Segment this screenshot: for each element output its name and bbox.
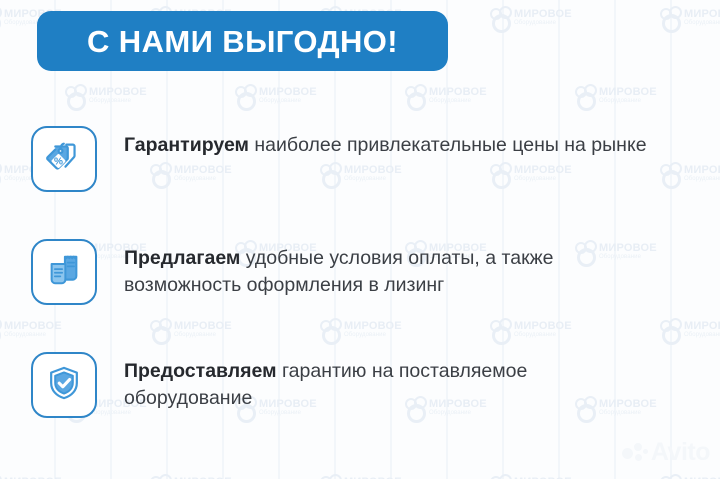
- benefit-text: Гарантируем наиболее привлекательные цен…: [124, 132, 647, 159]
- benefit-icon-box: [31, 239, 97, 305]
- benefit-rest: наиболее привлекательные цены на рынке: [249, 134, 647, 156]
- benefit-row: % Гарантируем наиболее привлекательные ц…: [0, 118, 720, 231]
- benefit-text: Предоставляем гарантию на поставляемое о…: [124, 358, 654, 412]
- benefits-list: % Гарантируем наиболее привлекательные ц…: [0, 118, 720, 457]
- price-tag-percent-icon: %: [42, 135, 86, 184]
- benefit-icon-box: [31, 352, 97, 418]
- benefit-row: Предлагаем удобные условия оплаты, а так…: [0, 231, 720, 344]
- shield-check-icon: [42, 361, 86, 410]
- promo-banner-image: МИРОВОЕОборудованиеМИРОВОЕОборудованиеМИ…: [0, 0, 720, 479]
- benefit-text: Предлагаем удобные условия оплаты, а так…: [124, 245, 654, 299]
- benefit-lead: Гарантируем: [124, 134, 249, 156]
- headline-text: С НАМИ ВЫГОДНО!: [87, 26, 398, 57]
- headline-banner: С НАМИ ВЫГОДНО!: [37, 11, 448, 71]
- benefit-icon-box: %: [31, 126, 97, 192]
- svg-text:%: %: [54, 156, 63, 167]
- receipt-documents-icon: [42, 248, 86, 297]
- benefit-row: Предоставляем гарантию на поставляемое о…: [0, 344, 720, 457]
- benefit-lead: Предлагаем: [124, 247, 240, 269]
- benefit-lead: Предоставляем: [124, 360, 277, 382]
